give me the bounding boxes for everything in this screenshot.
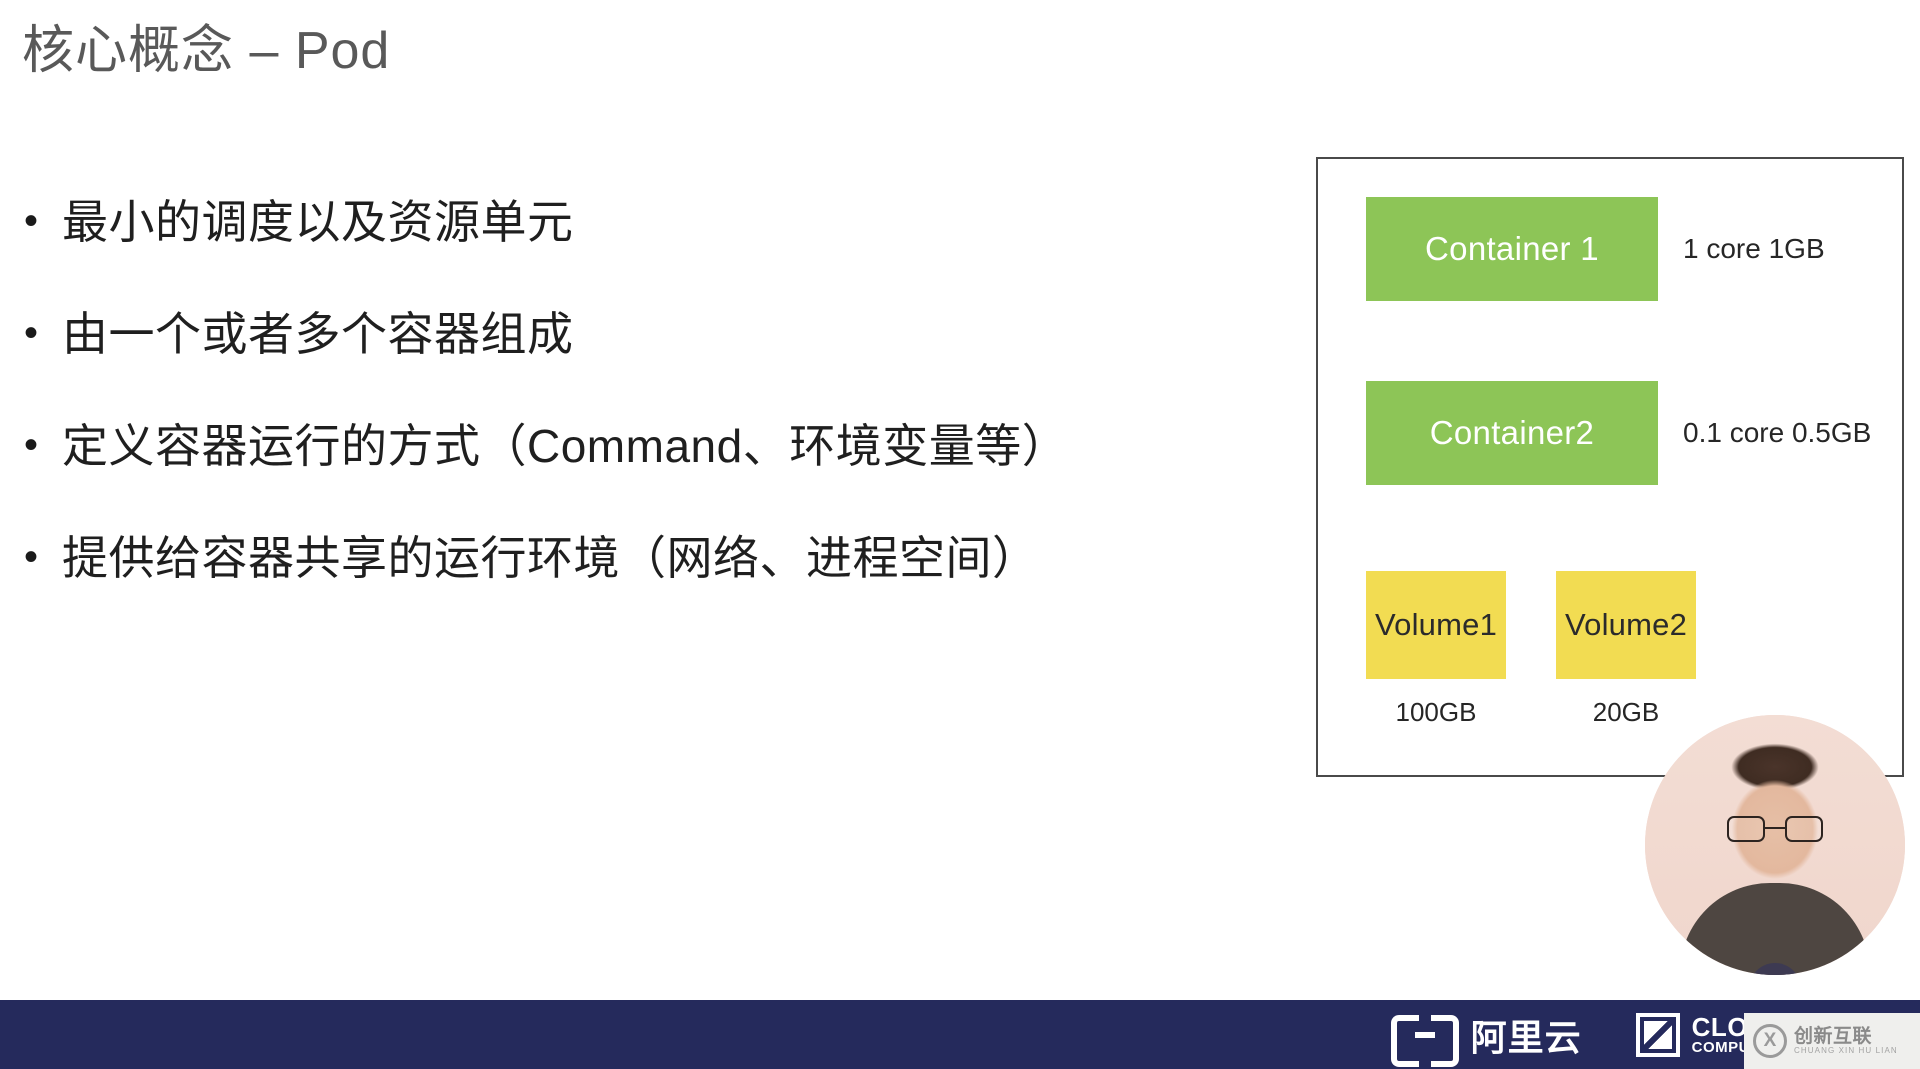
watermark-chinese-label: 创新互联 [1794, 1027, 1898, 1047]
bullet-text: 最小的调度以及资源单元 [62, 195, 1288, 249]
page-title: 核心概念 – Pod [22, 8, 390, 83]
presenter-video-overlay[interactable] [1645, 715, 1905, 975]
list-item: • 提供给容器共享的运行环境（网络、进程空间） [18, 531, 1288, 585]
aliyun-dash-icon [1415, 1032, 1435, 1038]
container-box: Container 1 [1366, 197, 1658, 301]
bullet-dot-icon: • [18, 307, 62, 359]
container-spec-label: 0.1 core 0.5GB [1683, 417, 1871, 449]
aliyun-logo: 阿里云 [1391, 1009, 1582, 1061]
bullet-text: 由一个或者多个容器组成 [62, 307, 1288, 361]
volume-box: Volume2 [1556, 571, 1696, 679]
aliyun-bracket-icon [1391, 1015, 1459, 1055]
cloud-label-stack: CLO COMPU [1692, 1014, 1750, 1056]
pod-diagram: Container 1 1 core 1GB Container2 0.1 co… [1316, 157, 1904, 777]
volume-cell: Volume2 20GB [1556, 571, 1696, 728]
bullet-text: 提供给容器共享的运行环境（网络、进程空间） [62, 531, 1288, 585]
bullet-dot-icon: • [18, 419, 62, 471]
bullet-dot-icon: • [18, 195, 62, 247]
bullet-text: 定义容器运行的方式（Command、环境变量等） [62, 419, 1288, 473]
watermark: X 创新互联 CHUANG XIN HU LIAN [1744, 1013, 1920, 1069]
aliyun-label: 阿里云 [1471, 1009, 1582, 1061]
volume-box: Volume1 [1366, 571, 1506, 679]
container-spec-label: 1 core 1GB [1683, 233, 1825, 265]
bullet-list: • 最小的调度以及资源单元 • 由一个或者多个容器组成 • 定义容器运行的方式（… [18, 195, 1288, 643]
cloud-square-icon [1636, 1013, 1680, 1057]
glasses-icon [1727, 816, 1823, 842]
glasses-lens-left [1727, 816, 1765, 842]
container-row: Container2 0.1 core 0.5GB [1366, 381, 1871, 485]
glasses-bridge [1765, 827, 1785, 829]
glasses-lens-right [1785, 816, 1823, 842]
list-item: • 定义容器运行的方式（Command、环境变量等） [18, 419, 1288, 473]
cloud-label-line-2: COMPU [1692, 1040, 1750, 1055]
brand-logo-group: 阿里云 CLO COMPU [1391, 1009, 1750, 1061]
bullet-dot-icon: • [18, 531, 62, 583]
volume-size-label: 100GB [1396, 697, 1477, 728]
list-item: • 由一个或者多个容器组成 [18, 307, 1288, 361]
watermark-text-stack: 创新互联 CHUANG XIN HU LIAN [1794, 1027, 1898, 1055]
volume-cell: Volume1 100GB [1366, 571, 1506, 728]
cloud-label-line-1: CLO [1692, 1014, 1750, 1041]
presentation-slide: 核心概念 – Pod • 最小的调度以及资源单元 • 由一个或者多个容器组成 •… [0, 0, 1920, 1069]
volumes-row: Volume1 100GB Volume2 20GB [1366, 571, 1696, 728]
container-row: Container 1 1 core 1GB [1366, 197, 1825, 301]
container-box: Container2 [1366, 381, 1658, 485]
watermark-pinyin-label: CHUANG XIN HU LIAN [1794, 1047, 1898, 1055]
footer-bar: 阿里云 CLO COMPU [0, 1000, 1920, 1069]
list-item: • 最小的调度以及资源单元 [18, 195, 1288, 249]
presenter-collar [1749, 963, 1801, 975]
cloud-computing-logo: CLO COMPU [1636, 1013, 1750, 1057]
watermark-logo-icon: X [1753, 1024, 1787, 1058]
